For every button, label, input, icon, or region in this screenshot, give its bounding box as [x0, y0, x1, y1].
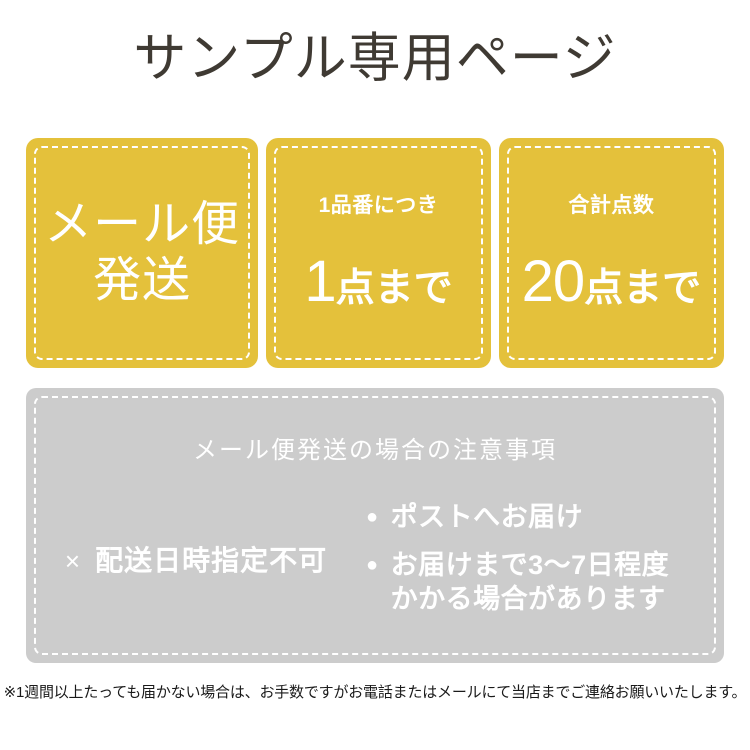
page-title: サンプル専用ページ	[0, 26, 750, 92]
notice-restriction: × 配送日時指定不可	[26, 496, 366, 626]
card-total-limit-value: 20 点まで	[522, 253, 702, 313]
card-per-item-limit-number: 1	[304, 253, 335, 311]
notice-body: × 配送日時指定不可 ● ポストへお届け ● お届けまで3〜7日程度 かかる場合…	[26, 496, 724, 626]
notice-title: メール便発送の場合の注意事項	[26, 436, 724, 466]
card-total-limit-label: 合計点数	[568, 193, 654, 219]
card-shipping-method: メール便 発送	[26, 138, 258, 368]
card-total-limit-unit: 点まで	[584, 265, 701, 313]
notice-restriction-label: 配送日時指定不可	[95, 544, 327, 578]
notice-restriction-text: × 配送日時指定不可	[65, 544, 327, 578]
card-total-limit: 合計点数 20 点まで	[499, 138, 724, 368]
info-card-row: メール便 発送 1品番につき 1 点まで 合計点数 20 点まで	[26, 138, 724, 368]
bullet-dot-icon: ●	[366, 500, 379, 534]
card-per-item-limit-value: 1 点まで	[304, 253, 452, 313]
footer-note: ※1週間以上たっても届かない場合は、お手数ですがお電話またはメールにて当店までご…	[0, 683, 750, 703]
card-per-item-limit-label: 1品番につき	[319, 193, 439, 219]
card-shipping-method-line-1: メール便	[44, 197, 240, 253]
card-per-item-limit-unit: 点まで	[336, 265, 453, 313]
list-item-line: かかる場合があります	[391, 582, 706, 616]
notice-panel: メール便発送の場合の注意事項 × 配送日時指定不可 ● ポストへお届け ●	[26, 388, 724, 663]
card-per-item-limit: 1品番につき 1 点まで	[266, 138, 490, 368]
bullet-dot-icon: ●	[366, 548, 379, 582]
list-item-text: ポストへお届け	[391, 500, 706, 534]
list-item-line: お届けまで3〜7日程度	[391, 548, 706, 582]
card-shipping-method-line-2: 発送	[93, 253, 191, 309]
list-item-line: ポストへお届け	[391, 500, 706, 534]
list-item: ● ポストへお届け	[366, 500, 706, 534]
list-item: ● お届けまで3〜7日程度 かかる場合があります	[366, 548, 706, 616]
notice-bullet-list: ● ポストへお届け ● お届けまで3〜7日程度 かかる場合があります	[366, 496, 706, 616]
cross-icon: ×	[65, 544, 81, 578]
sample-page: サンプル専用ページ メール便 発送 1品番につき 1 点まで 合計点数 20 点…	[0, 0, 750, 750]
list-item-text: お届けまで3〜7日程度 かかる場合があります	[391, 548, 706, 616]
card-total-limit-number: 20	[522, 253, 585, 311]
